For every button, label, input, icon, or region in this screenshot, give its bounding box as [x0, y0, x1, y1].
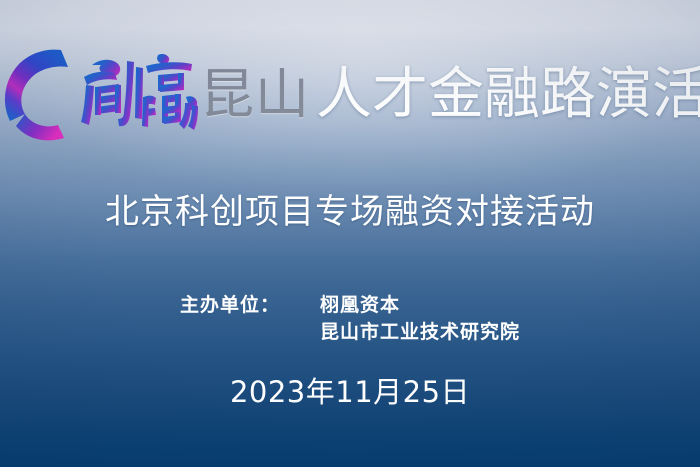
subtitle: 北京科创项目专场融资对接活动: [0, 193, 700, 231]
page-title: 人才金融路演活动: [316, 67, 700, 123]
c-swoosh-logo-icon: [4, 45, 72, 141]
header-lockup: 昆山 人才金融路演活动: [0, 42, 700, 144]
list-item: 栩凰资本: [320, 292, 400, 319]
event-date: 2023年11月25日: [0, 377, 700, 409]
organizers-block: 主办单位： 栩凰资本 昆山市工业技术研究院: [0, 292, 700, 346]
event-poster: 昆山 人才金融路演活动 北京科创项目专场融资对接活动 主办单位： 栩凰资本 昆山…: [0, 0, 700, 467]
organizers-list: 栩凰资本 昆山市工业技术研究院: [320, 292, 520, 346]
organizers-label: 主办单位：: [180, 292, 320, 319]
organizers-inner: 主办单位： 栩凰资本 昆山市工业技术研究院: [180, 292, 520, 346]
brand-script-chuangying-icon: [70, 47, 198, 139]
city-name: 昆山: [200, 68, 310, 122]
list-item: 昆山市工业技术研究院: [320, 319, 520, 346]
